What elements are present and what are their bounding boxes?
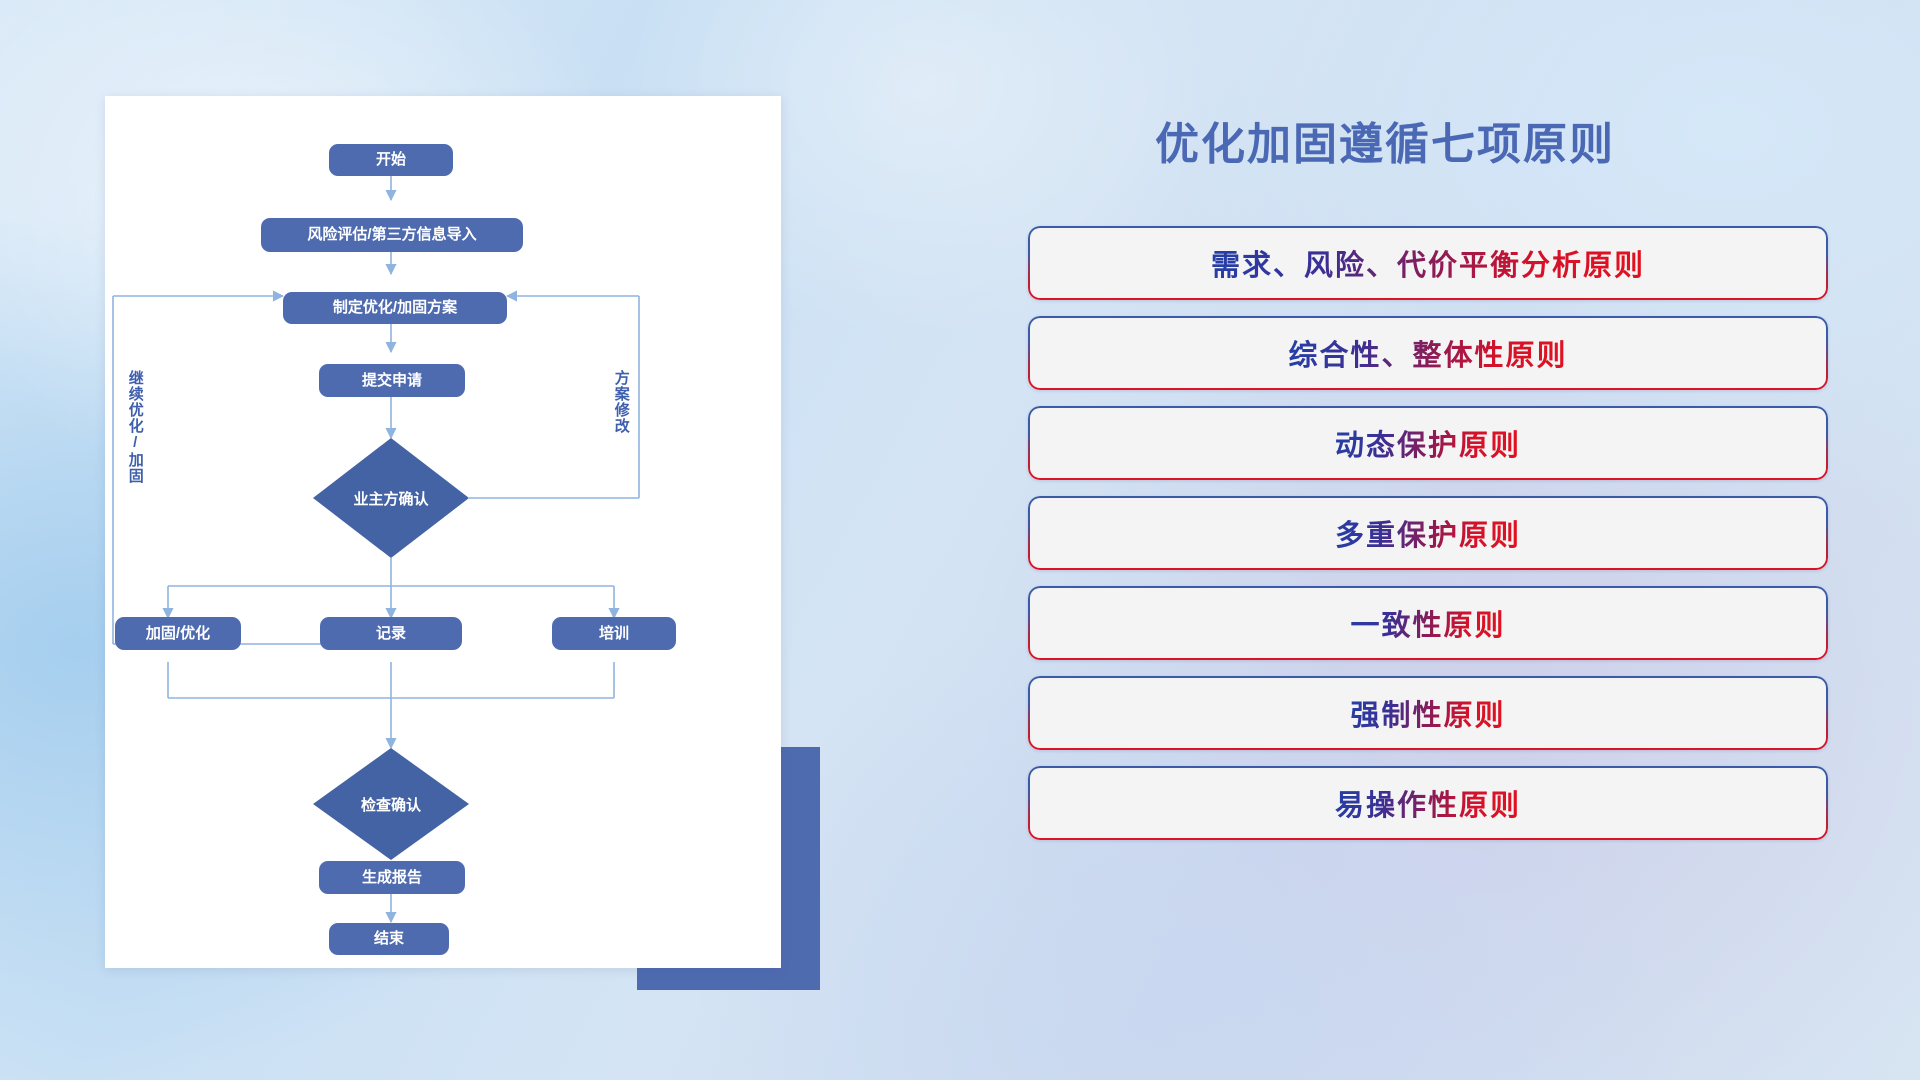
flow-node-reinforce[interactable]: 加固/优化 <box>115 617 241 650</box>
principle-card[interactable]: 多重保护原则 <box>1028 496 1828 570</box>
principle-card-label: 强制性原则 <box>1350 692 1505 734</box>
principle-card[interactable]: 综合性、整体性原则 <box>1028 316 1828 390</box>
flow-decision-inspection[interactable]: 检查确认 <box>313 748 469 860</box>
principle-card-label: 综合性、整体性原则 <box>1288 332 1567 374</box>
principle-card[interactable]: 强制性原则 <box>1028 676 1828 750</box>
flow-node-start[interactable]: 开始 <box>329 144 453 176</box>
principle-card[interactable]: 一致性原则 <box>1028 586 1828 660</box>
principle-card-label: 一致性原则 <box>1350 602 1505 644</box>
flow-decision-owner-confirm[interactable]: 业主方确认 <box>313 438 469 558</box>
principles-card-list: 需求、风险、代价平衡分析原则 综合性、整体性原则 动态保护原则 多重保护原则 一… <box>1028 226 1828 856</box>
flow-node-end[interactable]: 结束 <box>329 923 449 955</box>
flow-decision-owner-confirm-label: 业主方确认 <box>353 488 428 509</box>
flow-node-risk-assessment[interactable]: 风险评估/第三方信息导入 <box>261 218 523 252</box>
principle-card[interactable]: 易操作性原则 <box>1028 766 1828 840</box>
principle-card-label: 多重保护原则 <box>1335 512 1521 554</box>
principle-card[interactable]: 需求、风险、代价平衡分析原则 <box>1028 226 1828 300</box>
principle-card-label: 动态保护原则 <box>1335 422 1521 464</box>
flow-node-record[interactable]: 记录 <box>320 617 462 650</box>
flow-node-submit-application[interactable]: 提交申请 <box>319 364 465 397</box>
principle-card-label: 需求、风险、代价平衡分析原则 <box>1211 242 1645 284</box>
flow-node-plan[interactable]: 制定优化/加固方案 <box>283 292 507 324</box>
principles-panel: 优化加固遵循七项原则 需求、风险、代价平衡分析原则 综合性、整体性原则 动态保护… <box>1020 0 1920 1080</box>
principle-card-label: 易操作性原则 <box>1335 782 1521 824</box>
flow-node-generate-report[interactable]: 生成报告 <box>319 861 465 894</box>
flow-edge-label-plan-revision: 方案修改 <box>613 370 629 434</box>
flow-decision-inspection-label: 检查确认 <box>361 794 421 815</box>
principle-card[interactable]: 动态保护原则 <box>1028 406 1828 480</box>
flow-node-training[interactable]: 培训 <box>552 617 676 650</box>
page-title: 优化加固遵循七项原则 <box>1155 108 1615 172</box>
flow-edge-label-continue-optimize: 继续优化/加固 <box>127 370 143 484</box>
flowchart-card: 开始 风险评估/第三方信息导入 制定优化/加固方案 提交申请 业主方确认 加固/… <box>105 96 781 968</box>
